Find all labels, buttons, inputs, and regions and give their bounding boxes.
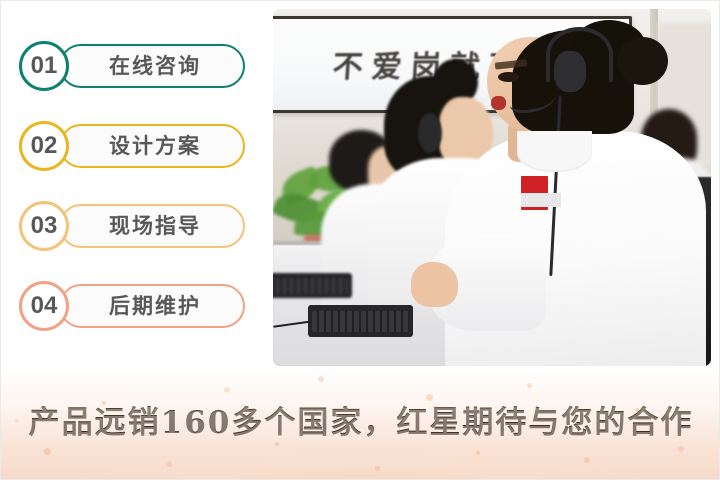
step-number-circle-2: 02 — [19, 121, 69, 171]
step-number-2: 02 — [31, 134, 58, 158]
call-center-photo: 不爱岗就下岗 — [273, 9, 711, 366]
step-number-circle-1: 01 — [19, 41, 69, 91]
step-number-3: 03 — [31, 214, 58, 238]
step-item-1[interactable]: 在线咨询 01 — [19, 41, 245, 93]
step-label-4: 后期维护 — [109, 296, 201, 317]
step-item-3[interactable]: 现场指导 03 — [19, 201, 245, 253]
step-item-4[interactable]: 后期维护 04 — [19, 281, 245, 333]
slogan-text: 产品远销160多个国家，红星期待与您的合作 — [1, 397, 720, 442]
step-pill-4[interactable]: 后期维护 — [59, 284, 245, 328]
step-number-circle-4: 04 — [19, 281, 69, 331]
bottom-slogan-banner: 产品远销160多个国家，红星期待与您的合作 — [1, 367, 720, 480]
step-item-2[interactable]: 设计方案 02 — [19, 121, 245, 173]
step-number-circle-3: 03 — [19, 201, 69, 251]
step-number-1: 01 — [31, 54, 58, 78]
keyboard-foreground — [308, 305, 413, 337]
step-pill-3[interactable]: 现场指导 — [59, 204, 245, 248]
headset-earcup — [554, 51, 586, 93]
person-foreground-agent — [474, 20, 684, 366]
keyboard-far — [273, 273, 352, 298]
typing-hand — [411, 262, 457, 307]
step-pill-2[interactable]: 设计方案 — [59, 124, 245, 168]
step-label-2: 设计方案 — [109, 136, 201, 157]
step-label-3: 现场指导 — [109, 216, 201, 237]
service-steps-panel: 在线咨询 01 设计方案 02 现场指导 03 后期维护 — [1, 1, 263, 367]
promo-banner-page: 在线咨询 01 设计方案 02 现场指导 03 后期维护 — [0, 0, 720, 480]
step-label-1: 在线咨询 — [109, 56, 201, 77]
step-pill-1[interactable]: 在线咨询 — [59, 44, 245, 88]
step-number-4: 04 — [31, 294, 58, 318]
